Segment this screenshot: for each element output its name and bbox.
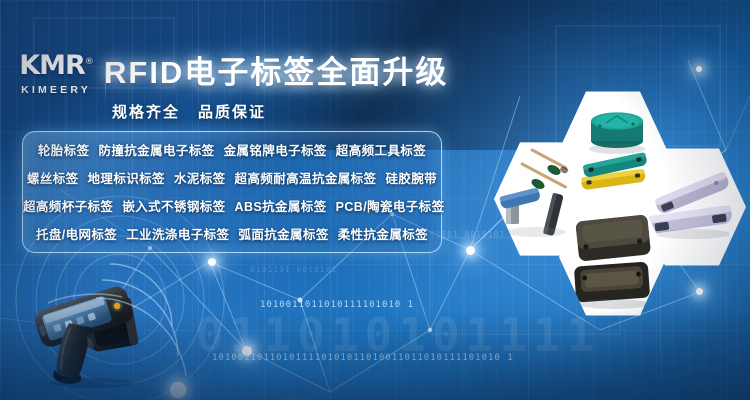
bottom-fade-overlay	[0, 310, 750, 400]
rfid-promo-banner: 1010011011010111101010 1 011010101111 10…	[0, 0, 750, 400]
